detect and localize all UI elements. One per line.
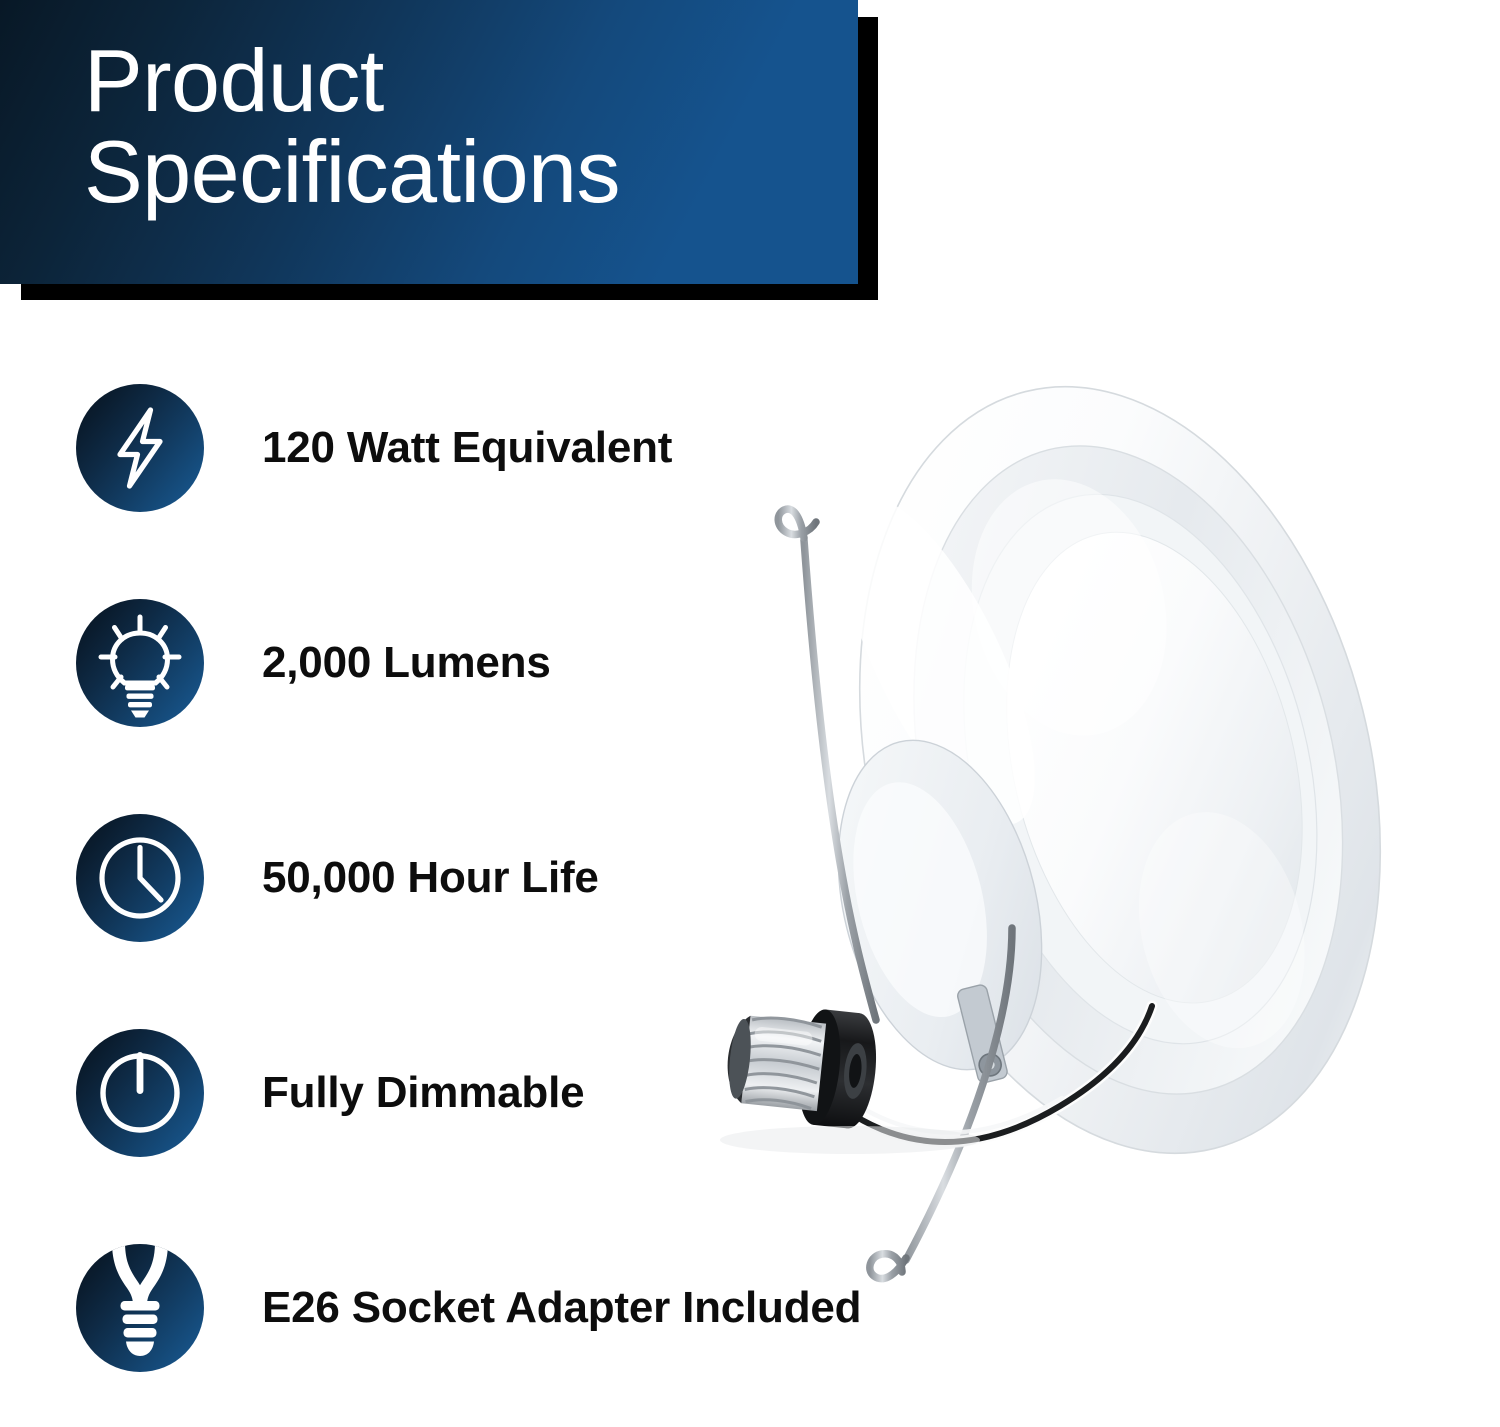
header-banner-plate: Product Specifications xyxy=(0,0,858,284)
spec-label: 2,000 Lumens xyxy=(262,567,551,759)
spec-label: 50,000 Hour Life xyxy=(262,782,599,974)
spec-label: 120 Watt Equivalent xyxy=(262,352,672,544)
light-bulb-icon xyxy=(76,599,204,727)
lightning-bolt-icon xyxy=(76,384,204,512)
socket-base-icon xyxy=(76,1244,204,1372)
product-photo xyxy=(640,300,1500,1310)
page-title: Product Specifications xyxy=(84,36,824,217)
e26-screw-base-adapter xyxy=(722,1000,881,1131)
clock-icon xyxy=(76,814,204,942)
power-button-icon xyxy=(76,1029,204,1157)
header-banner: Product Specifications xyxy=(0,0,858,284)
spec-label: Fully Dimmable xyxy=(262,997,584,1189)
